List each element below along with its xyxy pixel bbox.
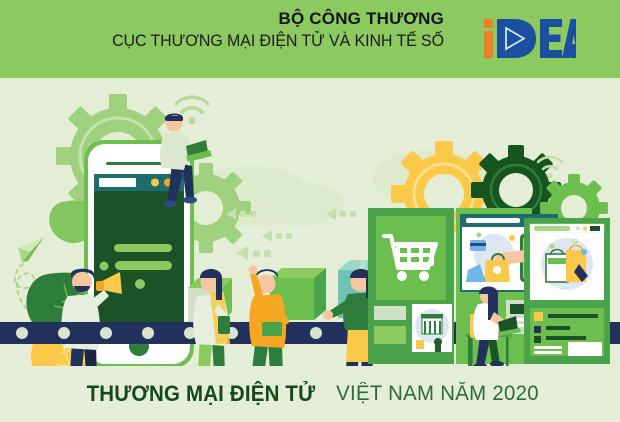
browser-window-right[interactable] [530,224,604,300]
chat-dot-1 [100,262,109,271]
poster-root: BỘ CÔNG THƯƠNG CỤC THƯƠNG MẠI ĐIỆN TỬ VÀ… [0,0,620,422]
topbar-dot-1 [151,179,159,187]
chat-dot-2 [135,279,145,289]
search-input[interactable] [99,178,136,187]
panel-right[interactable] [524,218,610,364]
panel-bar-2 [374,326,406,344]
illustration-area [0,78,620,366]
footer-title-light: VIỆT NAM NĂM 2020 [337,382,540,406]
storefront-thumbnail [412,304,452,352]
ministry-title: BỘ CÔNG THƯƠNG [0,8,444,30]
chat-bubble-1 [114,244,172,252]
idea-logo[interactable] [484,17,576,59]
panel-shopping-cart[interactable] [368,208,454,364]
right-content-block [530,308,604,356]
cart-wheel-2 [419,271,429,281]
cart-wheel-1 [397,271,407,281]
logo-i-stem [484,31,493,58]
footer-title-bar: THƯƠNG MẠI ĐIỆN TỬ VIỆT NAM NĂM 2020 [0,366,620,422]
footer-title-bold: THƯƠNG MẠI ĐIỆN TỬ [86,381,315,407]
panel-bar-1 [374,306,406,320]
department-title: CỤC THƯƠNG MẠI ĐIỆN TỬ VÀ KINH TẾ SỐ [13,30,444,53]
logo-letter-e [540,19,562,58]
header-text-block: BỘ CÔNG THƯƠNG CỤC THƯƠNG MẠI ĐIỆN TỬ VÀ… [0,8,444,53]
logo-i-dot [484,19,493,28]
idea-logo-svg [484,17,576,59]
illustration-svg [0,78,620,366]
conveyor-rollers [16,327,364,339]
chat-bubble-2 [115,261,172,270]
